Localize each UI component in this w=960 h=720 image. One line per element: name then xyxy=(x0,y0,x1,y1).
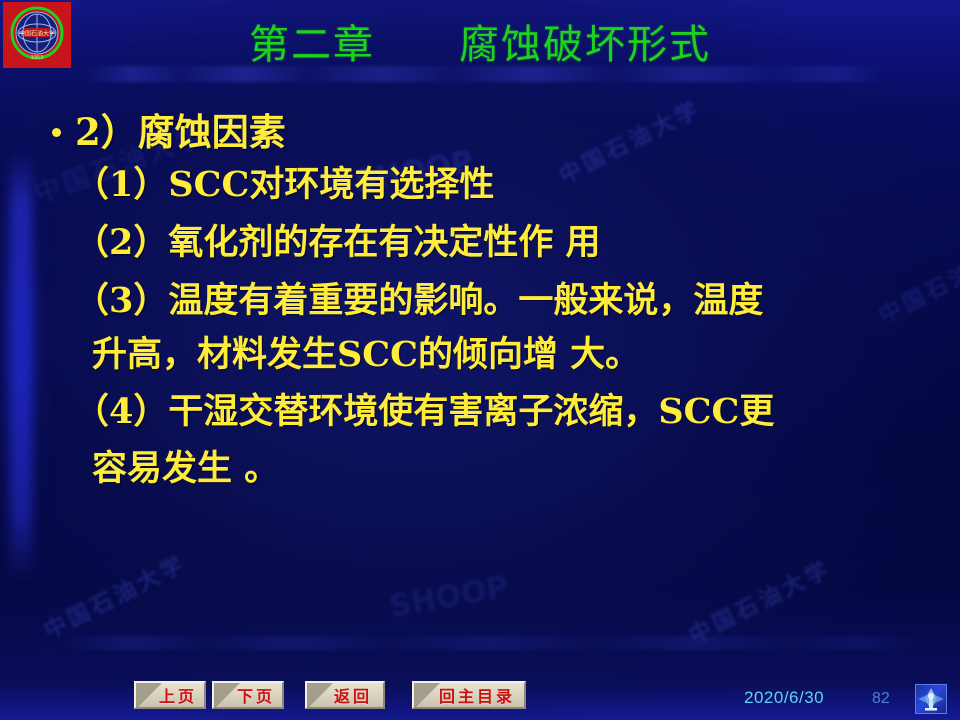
previous-page-button[interactable]: 上页 xyxy=(134,681,206,709)
slide-body: 2）腐蚀因素 （1）SCC对环境有选择性 （2）氧化剂的存在有决定性作 用 （3… xyxy=(52,108,932,495)
slide-page-number: 82 xyxy=(872,690,890,708)
bullet-line-6: （4）干湿交替环境使有害离子浓缩，SCC更 xyxy=(52,381,932,443)
watermark-brand: SHOOP xyxy=(387,569,511,624)
bullet-line-1-text: 2）腐蚀因素 xyxy=(75,110,286,154)
slide-date: 2020/6/30 xyxy=(744,688,824,708)
back-button[interactable]: 返回 xyxy=(305,681,385,709)
watermark-university: 中国石油大学 xyxy=(38,546,192,645)
bullet-line-7: 容易发生 。 xyxy=(52,443,932,495)
main-menu-button[interactable]: 回主目录 xyxy=(412,681,526,709)
main-menu-label: 回主目录 xyxy=(423,683,515,707)
bullet-line-4: （3）温度有着重要的影响。一般来说，温度 xyxy=(52,272,932,329)
back-label: 返回 xyxy=(318,683,372,707)
next-page-label: 下页 xyxy=(221,683,275,707)
bullet-line-2: （1）SCC对环境有选择性 xyxy=(52,156,932,213)
bullet-dot-icon xyxy=(52,128,61,137)
background-text-band-bottom xyxy=(60,636,920,650)
previous-page-label: 上页 xyxy=(143,683,197,707)
slide-title: 第二章 腐蚀破坏形式 xyxy=(0,12,960,70)
background-light-streak xyxy=(10,150,32,580)
watermark-university: 中国石油大学 xyxy=(683,551,837,650)
background-light-glow xyxy=(4,190,38,530)
bullet-line-5: 升高，材料发生SCC的倾向增 大。 xyxy=(52,329,932,381)
slide-corner-emblem-icon xyxy=(915,684,947,714)
presentation-slide: 中国石油大学 中国石油大学 中国石油大学 中国石油大学 SHOOP SHOOP … xyxy=(0,0,960,720)
bullet-line-1: 2）腐蚀因素 xyxy=(52,108,932,156)
bullet-line-3: （2）氧化剂的存在有决定性作 用 xyxy=(52,213,932,272)
next-page-button[interactable]: 下页 xyxy=(212,681,284,709)
